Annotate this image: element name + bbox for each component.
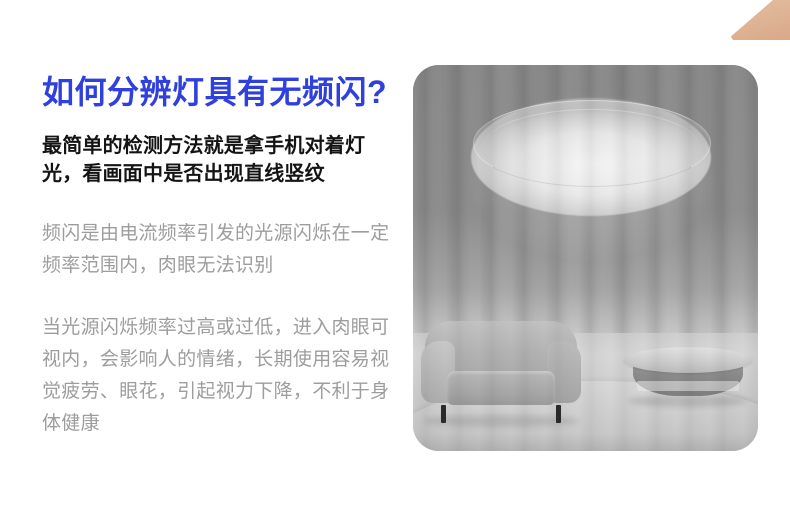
armchair-seat [447,371,555,405]
tan-corner-wedge-icon [730,0,790,40]
armchair-leg-left [441,405,446,423]
table-shadow [628,395,748,407]
round-coffee-table [624,347,752,409]
gray-armchair [421,321,581,423]
body-paragraph-1: 频闪是由电流频率引发的光源闪烁在一定频率范围内，肉眼无法识别 [42,218,394,282]
corner-accent [728,0,790,40]
body-paragraph-2: 当光源闪烁频率过高或过低，进入肉眼可视内，会影响人的情绪，长期使用容易视觉疲劳、… [42,312,394,440]
page-root: 如何分辨灯具有无频闪? 最简单的检测方法就是拿手机对着灯光，看画面中是否出现直线… [0,0,790,506]
lamp-rim-inner [483,109,699,186]
text-column: 如何分辨灯具有无频闪? 最简单的检测方法就是拿手机对着灯光，看画面中是否出现直线… [42,72,394,440]
armchair-leg-right [556,405,561,423]
photo-panel [413,65,758,451]
lede-paragraph: 最简单的检测方法就是拿手机对着灯光，看画面中是否出现直线竖纹 [42,132,394,188]
page-title: 如何分辨灯具有无频闪? [42,72,394,112]
table-top [624,347,752,373]
ceiling-lamp [471,98,711,216]
table-shelf [637,381,739,391]
